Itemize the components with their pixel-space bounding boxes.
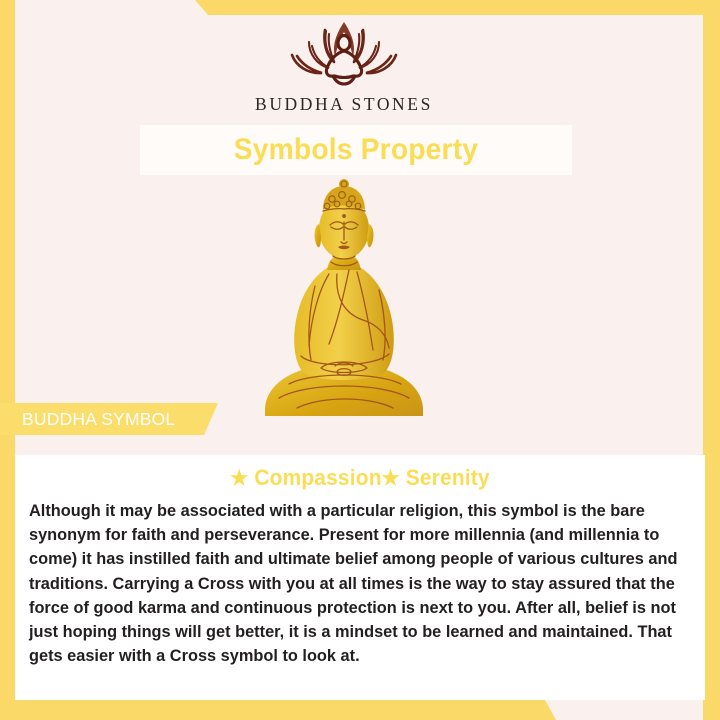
star-icon-second: ★ [382, 467, 400, 490]
brand-logo-block: BUDDHA STONES [0, 16, 688, 115]
star-icon-first: ★ [230, 467, 248, 490]
virtue-serenity: Serenity [406, 465, 490, 490]
buddha-symbol-tag: BUDDHA SYMBOL [0, 403, 218, 435]
title-banner: Symbols Property [140, 125, 572, 175]
body-paragraph: Although it may be associated with a par… [29, 499, 681, 669]
page-title: Symbols Property [234, 133, 478, 167]
virtues-heading: ★ Compassion★ Serenity [32, 465, 688, 491]
top-accent-bar [0, 0, 720, 15]
virtue-compassion: Compassion [254, 465, 381, 490]
brand-name: BUDDHA STONES [0, 94, 688, 115]
buddha-illustration-wrap [0, 178, 688, 416]
right-accent-bar [703, 0, 720, 720]
content-card: ★ Compassion★ Serenity Although it may b… [15, 455, 705, 700]
lotus-meditation-figure-icon [274, 16, 414, 90]
infographic-poster: BUDDHA STONES Symbols Property [0, 0, 720, 720]
seated-golden-buddha-illustration [253, 178, 435, 416]
buddha-symbol-tag-label: BUDDHA SYMBOL [22, 409, 175, 430]
